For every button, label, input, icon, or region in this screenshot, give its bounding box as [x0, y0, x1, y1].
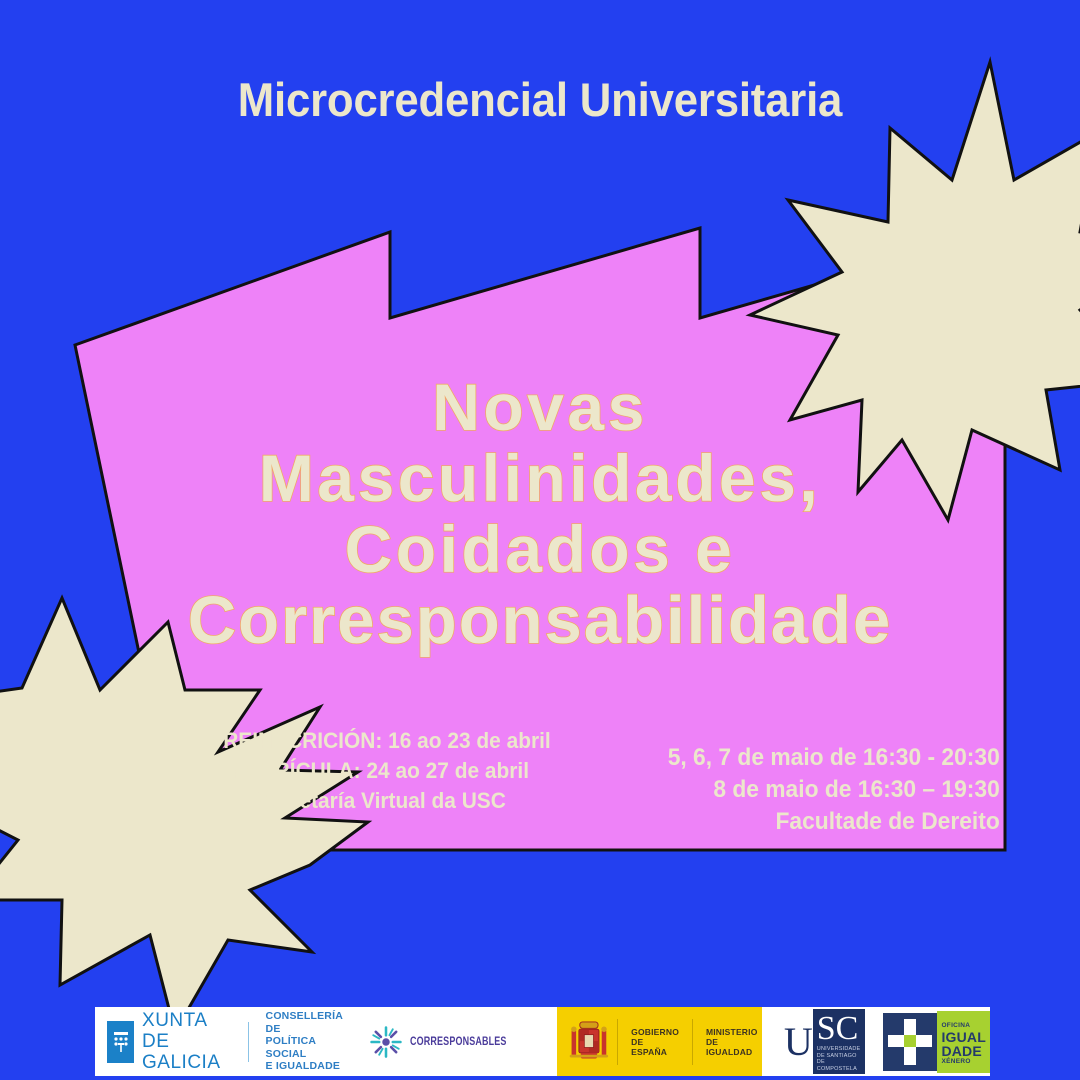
spain-coat-of-arms-icon	[567, 1014, 611, 1070]
gobierno-label: GOBIERNO DE ESPAÑA	[631, 1027, 679, 1057]
logo-corresponsables: CORRESPONSABLES	[343, 1007, 534, 1076]
logo-gobierno-de-espana: GOBIERNO DE ESPAÑA MINISTERIO DE IGUALDA…	[557, 1007, 761, 1076]
starburst-bottom-left-icon	[0, 0, 1080, 1080]
corresponsables-burst-icon	[369, 1025, 403, 1059]
usc-sub-line-3: DE COMPOSTELA	[817, 1059, 861, 1072]
gobierno-divider-right	[692, 1019, 693, 1065]
igual-line: IGUAL	[941, 1030, 986, 1044]
usc-letter-u: U	[784, 1022, 813, 1062]
logo-oficina-igualdade-xenero: OFICINA IGUAL DADE XÉNERO	[883, 1007, 990, 1076]
gobierno-divider-left	[617, 1019, 618, 1065]
logo-xunta-de-galicia: XUNTA DE GALICIA CONSELLERÍA DE POLÍTICA…	[95, 1007, 343, 1076]
igualdade-cross-icon	[883, 1013, 937, 1071]
xunta-line-1: XUNTA	[142, 1010, 231, 1031]
xunta-shield-icon	[107, 1021, 134, 1063]
conselleria-line-3: E IGUALDADE	[266, 1060, 343, 1073]
schedule-line-2: 8 de maio de 16:30 – 19:30	[610, 774, 1000, 806]
venue-line: Facultade de Dereito	[610, 806, 1000, 838]
logo-usc: U SC UNIVERSIDADE DE SANTIAGO DE COMPOST…	[784, 1007, 866, 1076]
ministerio-label: MINISTERIO DE IGUALDAD	[706, 1027, 762, 1057]
xunta-wordmark: XUNTA DE GALICIA	[142, 1010, 231, 1073]
matricula-line: MATRÍCULA: 24 ao 27 de abril	[190, 756, 570, 786]
ministerio-line-1: MINISTERIO	[706, 1027, 762, 1037]
xunta-line-2: DE GALICIA	[142, 1031, 231, 1073]
sponsor-logo-bar: XUNTA DE GALICIA CONSELLERÍA DE POLÍTICA…	[95, 1007, 990, 1076]
usc-letters-sc: SC	[817, 1012, 859, 1046]
poster-canvas: Microcredencial Universitaria Novas Masc…	[0, 0, 1080, 1080]
corresponsables-label: CORRESPONSABLES	[410, 1036, 507, 1048]
xenero-line: XÉNERO	[941, 1058, 986, 1066]
conselleria-label: CONSELLERÍA DE POLÍTICA SOCIAL E IGUALDA…	[266, 1010, 343, 1073]
enrolment-info-block: PREINSCRICIÓN: 16 ao 23 de abril MATRÍCU…	[190, 726, 570, 816]
ministerio-line-2: DE IGUALDAD	[706, 1037, 762, 1057]
gobierno-line-1: GOBIERNO	[631, 1027, 679, 1037]
conselleria-line-1: CONSELLERÍA DE	[266, 1010, 343, 1035]
dade-line: DADE	[941, 1044, 986, 1058]
schedule-line-1: 5, 6, 7 de maio de 16:30 - 20:30	[610, 742, 1000, 774]
xunta-divider	[248, 1022, 249, 1062]
schedule-info-block: 5, 6, 7 de maio de 16:30 - 20:30 8 de ma…	[610, 742, 1000, 838]
secretaria-line: Secretaría Virtual da USC	[190, 786, 570, 816]
preinscricion-line: PREINSCRICIÓN: 16 ao 23 de abril	[190, 726, 570, 756]
gobierno-line-2: DE ESPAÑA	[631, 1037, 679, 1057]
igualdade-wordmark: OFICINA IGUAL DADE XÉNERO	[937, 1011, 990, 1073]
conselleria-line-2: POLÍTICA SOCIAL	[266, 1035, 343, 1060]
usc-badge: SC UNIVERSIDADE DE SANTIAGO DE COMPOSTEL…	[813, 1009, 866, 1074]
page-title: Microcredencial Universitaria	[38, 72, 1042, 127]
